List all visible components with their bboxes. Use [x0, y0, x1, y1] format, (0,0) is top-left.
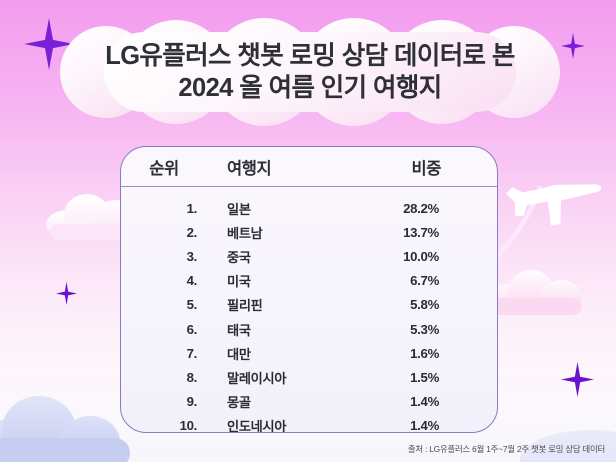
cell-share: 5.3% [367, 322, 497, 337]
cell-destination: 중국 [207, 247, 367, 266]
cell-rank: 2. [121, 225, 207, 240]
table-row: 2.베트남13.7% [121, 220, 497, 244]
cell-share: 28.2% [367, 201, 497, 216]
cell-destination: 미국 [207, 271, 367, 290]
table-header-row: 순위 여행지 비중 [121, 147, 497, 187]
cell-destination: 태국 [207, 320, 367, 339]
table-row: 7.대만1.6% [121, 341, 497, 365]
cloud-icon-right-mid [486, 270, 586, 316]
table-row: 4.미국6.7% [121, 269, 497, 293]
table-row: 9.몽골1.4% [121, 390, 497, 414]
cell-share: 10.0% [367, 249, 497, 264]
table-row: 3.중국10.0% [121, 244, 497, 268]
sparkle-icon-top-right [561, 33, 585, 59]
table-body: 1.일본28.2%2.베트남13.7%3.중국10.0%4.미국6.7%5.필리… [121, 187, 497, 433]
cell-rank: 4. [121, 273, 207, 288]
cell-rank: 9. [121, 394, 207, 409]
cell-destination: 필리핀 [207, 295, 367, 314]
cell-share: 1.6% [367, 346, 497, 361]
cell-share: 13.7% [367, 225, 497, 240]
cell-rank: 5. [121, 297, 207, 312]
cell-destination: 말레이시아 [207, 368, 367, 387]
cell-share: 1.4% [367, 418, 497, 433]
cell-rank: 10. [121, 418, 207, 433]
ranking-table-card: 순위 여행지 비중 1.일본28.2%2.베트남13.7%3.중국10.0%4.… [120, 146, 498, 433]
table-row: 8.말레이시아1.5% [121, 365, 497, 389]
table-row: 6.태국5.3% [121, 317, 497, 341]
cell-destination: 일본 [207, 199, 367, 218]
column-header-share: 비중 [367, 155, 497, 179]
table-row: 10.인도네시아1.4% [121, 414, 497, 433]
airplane-icon [486, 150, 614, 268]
column-header-destination: 여행지 [207, 155, 367, 179]
table-row: 5.필리핀5.8% [121, 293, 497, 317]
title-bubble: LG유플러스 챗봇 로밍 상담 데이터로 본 2024 올 여름 인기 여행지 [60, 26, 560, 118]
cell-destination: 대만 [207, 344, 367, 363]
cell-share: 1.5% [367, 370, 497, 385]
cell-rank: 3. [121, 249, 207, 264]
table-row: 1.일본28.2% [121, 196, 497, 220]
page-title-line-1: LG유플러스 챗봇 로밍 상담 데이터로 본 [105, 41, 515, 71]
cell-rank: 8. [121, 370, 207, 385]
cell-destination: 인도네시아 [207, 416, 367, 433]
cell-share: 1.4% [367, 394, 497, 409]
column-header-rank: 순위 [121, 155, 207, 179]
cell-destination: 몽골 [207, 392, 367, 411]
sparkle-icon-right-low [561, 362, 594, 397]
sparkle-icon-left-mid [56, 282, 77, 305]
page-title-line-2: 2024 올 여름 인기 여행지 [178, 73, 441, 103]
source-note: 출처 : LG유플러스 6월 1주~7월 2주 챗봇 로밍 상담 데이터 [408, 443, 605, 455]
cell-rank: 7. [121, 346, 207, 361]
infographic-canvas: LG유플러스 챗봇 로밍 상담 데이터로 본 2024 올 여름 인기 여행지 … [0, 0, 616, 462]
cell-rank: 6. [121, 322, 207, 337]
cell-share: 5.8% [367, 297, 497, 312]
cell-destination: 베트남 [207, 223, 367, 242]
cell-share: 6.7% [367, 273, 497, 288]
cell-rank: 1. [121, 201, 207, 216]
